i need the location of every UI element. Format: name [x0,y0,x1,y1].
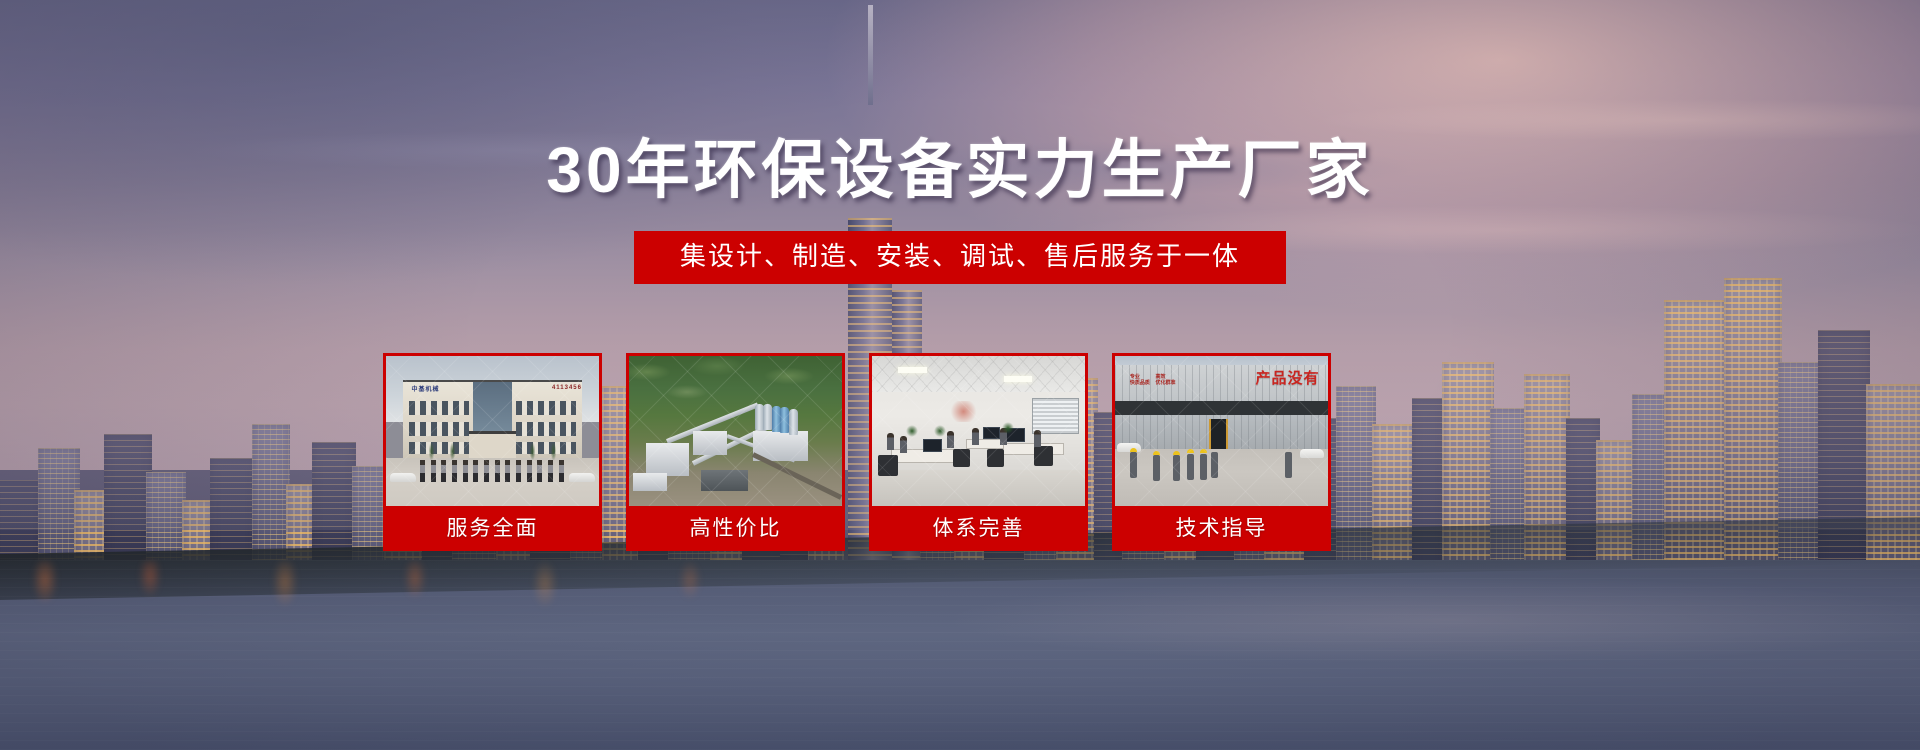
card-photo-office-building: 中基机械 4113456 [386,356,599,506]
card-label: 高性价比 [629,506,842,548]
subtitle-badge: 集设计、制造、安装、调试、售后服务于一体 [634,231,1286,284]
building-phone-number: 4113456 [510,383,582,394]
card-label: 技术指导 [1115,506,1328,548]
building-company-sign: 中基机械 [412,383,489,394]
subtitle-container: 集设计、制造、安装、调试、售后服务于一体 [0,231,1920,284]
card-photo-office-interior [872,356,1085,506]
card-label: 服务全面 [386,506,599,548]
card-label: 体系完善 [872,506,1085,548]
banner-content: 30年环保设备实力生产厂家 集设计、制造、安装、调试、售后服务于一体 [0,0,1920,750]
feature-card[interactable]: 产品没有 专业快质品质 高效优化群准 [1112,353,1331,551]
factory-slogan-left: 专业快质品质 [1130,374,1150,387]
card-photo-industrial-plant [629,356,842,506]
feature-card[interactable]: 体系完善 [869,353,1088,551]
factory-slogan-mid: 高效优化群准 [1155,374,1175,387]
hero-banner: 30年环保设备实力生产厂家 集设计、制造、安装、调试、售后服务于一体 [0,0,1920,750]
feature-card-row: 中基机械 4113456 [383,353,1331,551]
feature-card[interactable]: 中基机械 4113456 [383,353,602,551]
page-title: 30年环保设备实力生产厂家 [0,119,1920,211]
feature-card[interactable]: 高性价比 [626,353,845,551]
factory-wall-slogan: 产品没有 [1222,365,1320,391]
card-photo-factory-workers: 产品没有 专业快质品质 高效优化群准 [1115,356,1328,506]
